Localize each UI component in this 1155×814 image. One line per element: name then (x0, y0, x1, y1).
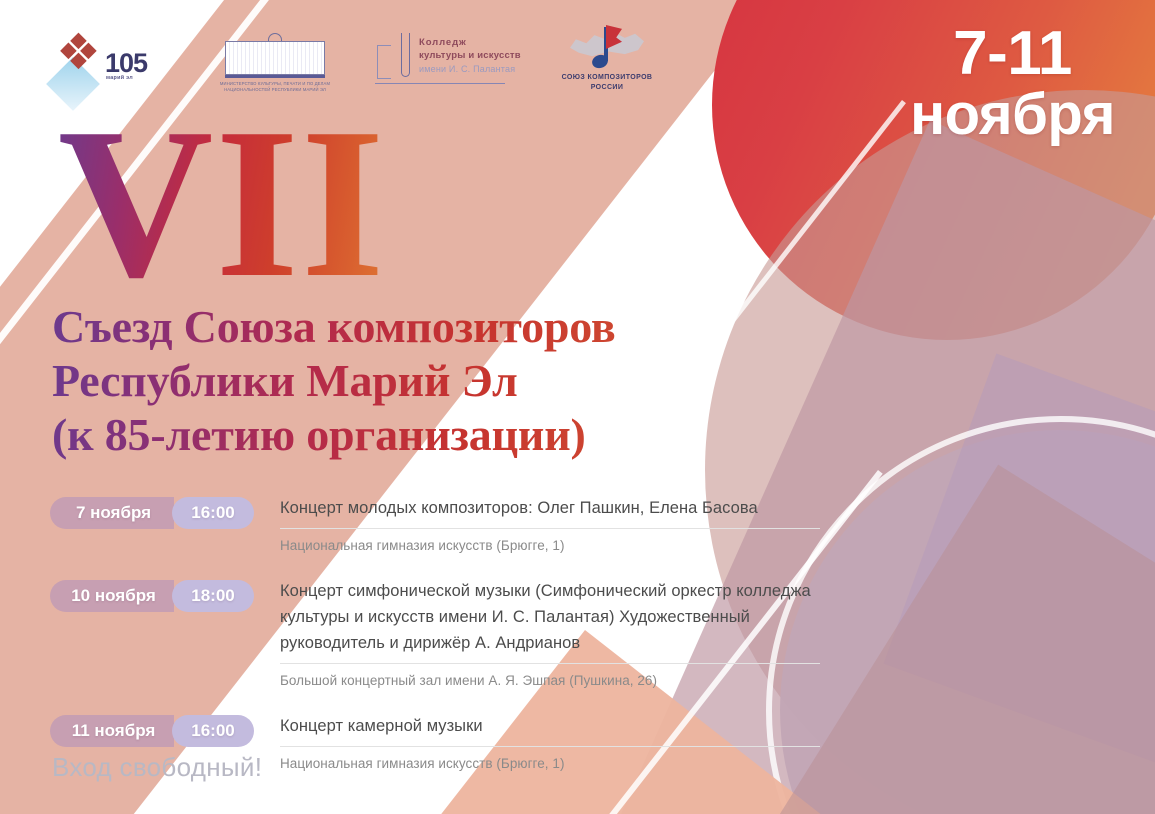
date-range: 7-11 (900, 24, 1125, 84)
union-caption: СОЮЗ КОМПОЗИТОРОВ РОССИИ (552, 73, 662, 92)
mark-stroke-1 (377, 45, 391, 79)
headline-line-2: Республики Марий Эл (52, 354, 842, 408)
building-base (225, 75, 325, 78)
schedule-item-body: Концерт симфонической музыки (Симфоничес… (262, 578, 820, 690)
deep-corner-shape (776, 465, 1155, 814)
event-title: Концерт молодых композиторов: Олег Пашки… (280, 495, 820, 521)
college-line-2: культуры и искусств (419, 50, 521, 61)
logo-college-of-culture-and-arts: Колледж культуры и искусств имени И. С. … (373, 23, 508, 109)
schedule-item: 10 ноября 18:00 Концерт симфонической му… (50, 578, 820, 690)
event-date-badge: 7-11 ноября (900, 24, 1125, 146)
college-rule (375, 83, 505, 84)
schedule-item-body: Концерт камерной музыки Национальная гим… (262, 713, 820, 773)
event-venue-divider: Большой концертный зал имени А. Я. Эшпая… (280, 663, 820, 690)
college-line-3: имени И. С. Палантая (419, 64, 515, 74)
music-note-icon (592, 25, 622, 73)
event-venue-divider: Национальная гимназия искусств (Брюгге, … (280, 746, 820, 773)
schedule-item-pills: 10 ноября 18:00 (50, 578, 262, 612)
anniversary-subtitle: марий эл (106, 75, 133, 81)
roman-numeral-vii: VII (58, 103, 387, 303)
college-mark-icon (375, 33, 417, 89)
free-entry-note: Вход свободный! (52, 752, 262, 783)
schedule-item: 7 ноября 16:00 Концерт молодых композито… (50, 495, 820, 555)
plum-patch (884, 354, 1155, 777)
schedule-item-pills: 7 ноября 16:00 (50, 495, 262, 529)
time-pill: 18:00 (172, 580, 254, 612)
date-pill: 10 ноября (50, 580, 174, 612)
mark-stroke-3 (401, 33, 410, 77)
building-cupola (268, 33, 282, 41)
logo-union-of-composers-of-russia: СОЮЗ КОМПОЗИТОРОВ РОССИИ (552, 23, 662, 109)
event-title: Концерт камерной музыки (280, 713, 820, 739)
mari-ornament-icon: ❖ (56, 27, 106, 77)
ministry-building-icon (225, 33, 325, 77)
poster-canvas: ❖ 105 марий эл МИНИСТЕРСТВО КУЛЬТУРЫ, ПЕ… (0, 0, 1155, 814)
page-title: Съезд Союза композиторов Республики Мари… (52, 300, 842, 462)
event-schedule-list: 7 ноября 16:00 Концерт молодых композито… (50, 495, 820, 796)
time-pill: 16:00 (172, 715, 254, 747)
headline-line-3: (к 85-летию организации) (52, 408, 842, 462)
event-venue-divider: Национальная гимназия искусств (Брюгге, … (280, 528, 820, 555)
event-venue: Национальная гимназия искусств (Брюгге, … (280, 755, 820, 773)
mark-stroke-2 (391, 35, 399, 87)
event-venue: Национальная гимназия искусств (Брюгге, … (280, 537, 820, 555)
lavender-circle-outline (766, 416, 1155, 814)
event-venue: Большой концертный зал имени А. Я. Эшпая… (280, 672, 820, 690)
building-facade (225, 41, 325, 75)
college-line-1: Колледж (419, 37, 467, 48)
schedule-item-body: Концерт молодых композиторов: Олег Пашки… (262, 495, 820, 555)
schedule-item-pills: 11 ноября 16:00 (50, 713, 262, 747)
time-pill: 16:00 (172, 497, 254, 529)
date-pill: 11 ноября (50, 715, 174, 747)
date-month: ноября (900, 84, 1125, 146)
date-pill: 7 ноября (50, 497, 174, 529)
event-title: Концерт симфонической музыки (Симфоничес… (280, 578, 820, 656)
note-flag (606, 25, 622, 49)
headline-line-1: Съезд Союза композиторов (52, 300, 842, 354)
lavender-circle (780, 430, 1155, 814)
